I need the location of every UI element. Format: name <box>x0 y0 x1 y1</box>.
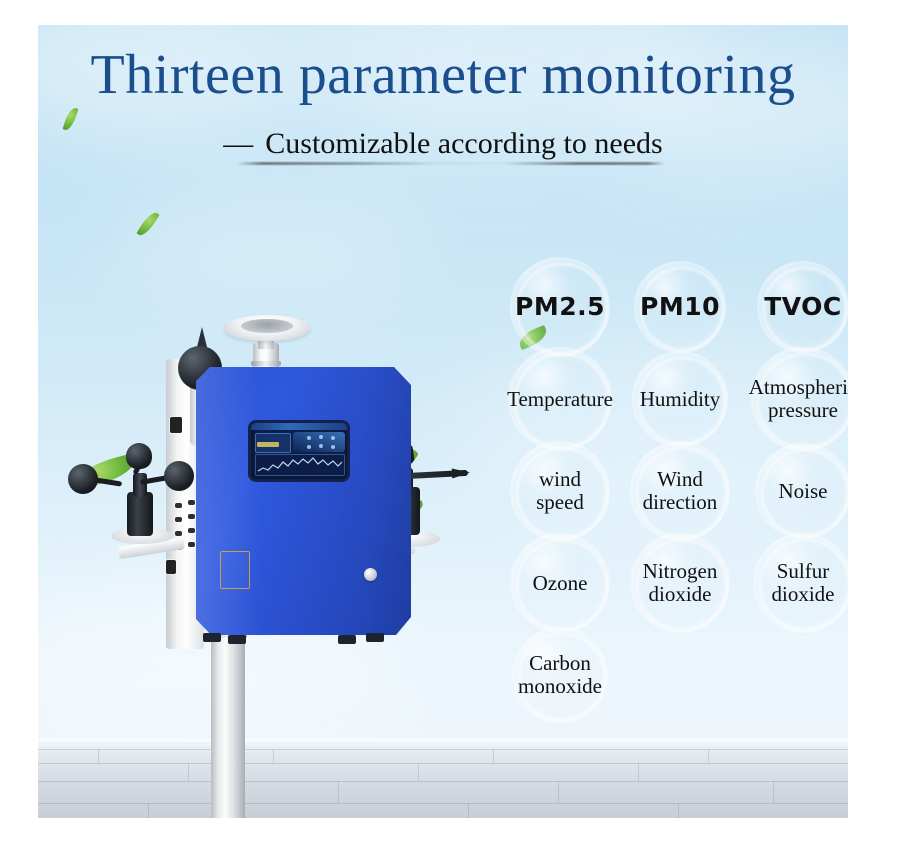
parameter-label: Winddirection <box>639 468 722 514</box>
poster-canvas: Thirteen parameter monitoring —Customiza… <box>38 25 848 818</box>
parameter-label: Atmosphericpressure <box>745 376 848 422</box>
parameter-bubble: Nitrogendioxide <box>630 533 730 633</box>
parameter-label: Noise <box>775 480 832 503</box>
parameter-bubble-grid: PM2.5PM10TVOCTemperatureHumidityAtmosphe… <box>38 25 848 818</box>
parameter-label: Nitrogendioxide <box>639 560 722 606</box>
parameter-bubble: Atmosphericpressure <box>751 347 848 451</box>
parameter-bubble: PM2.5 <box>510 257 610 357</box>
parameter-label: Ozone <box>529 572 592 595</box>
parameter-bubble: Sulfurdioxide <box>753 533 848 633</box>
parameter-label: Temperature <box>503 388 617 411</box>
parameter-bubble: TVOC <box>757 261 848 353</box>
parameter-label: TVOC <box>760 293 846 321</box>
parameter-label: PM2.5 <box>511 293 609 321</box>
parameter-label: Humidity <box>636 388 725 411</box>
parameter-bubble: Winddirection <box>630 441 730 541</box>
parameter-bubble: PM10 <box>634 261 726 353</box>
parameter-bubble: Carbonmonoxide <box>512 627 608 723</box>
parameter-label: windspeed <box>532 468 588 514</box>
parameter-bubble: Temperature <box>508 347 612 451</box>
parameter-label: PM10 <box>636 293 724 321</box>
parameter-label: Sulfurdioxide <box>768 560 839 606</box>
parameter-label: Carbonmonoxide <box>514 652 606 698</box>
parameter-bubble: Humidity <box>632 351 728 447</box>
parameter-bubble: Noise <box>755 443 848 539</box>
parameter-bubble: Ozone <box>510 533 610 633</box>
parameter-bubble: windspeed <box>510 441 610 541</box>
